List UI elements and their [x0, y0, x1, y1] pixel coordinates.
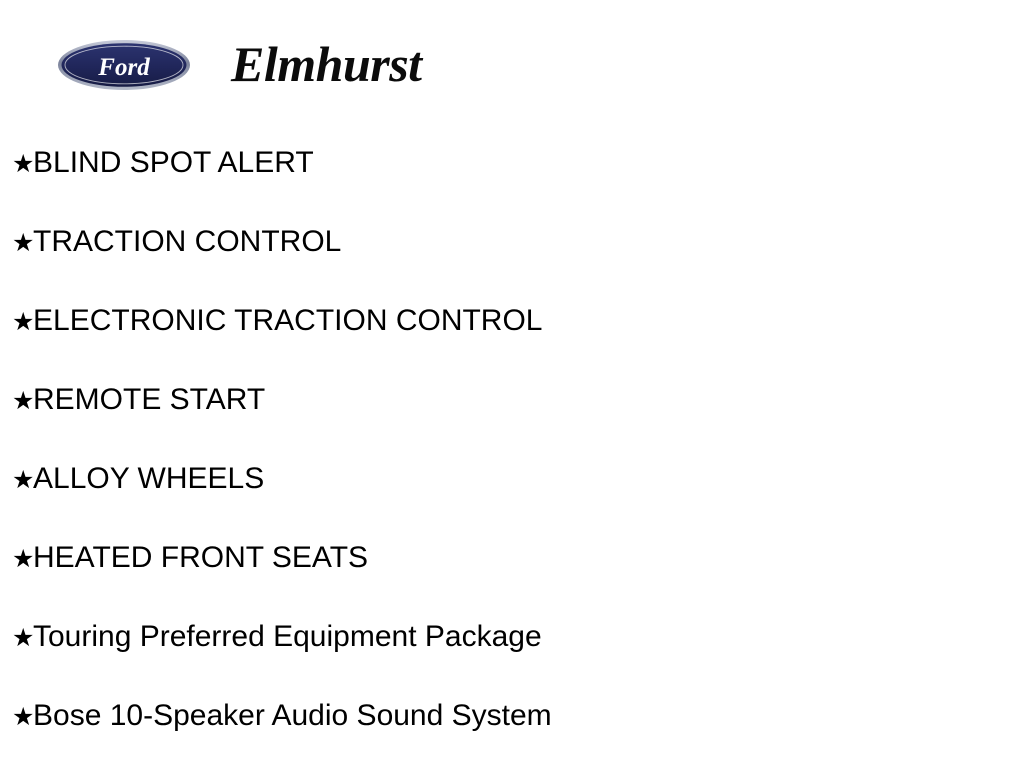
star-bullet-icon: ★ [0, 618, 33, 658]
brand-header: Ford Elmhurst [0, 0, 1024, 120]
star-bullet-icon: ★ [0, 381, 33, 421]
list-item: ★ BLIND SPOT ALERT [0, 143, 1024, 222]
feature-label: TRACTION CONTROL [33, 222, 341, 262]
feature-label: Touring Preferred Equipment Package [33, 617, 542, 657]
list-item: ★ ALLOY WHEELS [0, 459, 1024, 538]
list-item: ★ REMOTE START [0, 380, 1024, 459]
feature-label: ALLOY WHEELS [33, 459, 264, 499]
list-item: ★ Bose 10-Speaker Audio Sound System [0, 696, 1024, 775]
star-bullet-icon: ★ [0, 144, 33, 184]
svg-text:Ford: Ford [97, 54, 150, 81]
star-bullet-icon: ★ [0, 697, 33, 737]
feature-label: HEATED FRONT SEATS [33, 538, 368, 578]
list-item: ★ ELECTRONIC TRACTION CONTROL [0, 301, 1024, 380]
feature-label: REMOTE START [33, 380, 265, 420]
list-item: ★ TRACTION CONTROL [0, 222, 1024, 301]
star-bullet-icon: ★ [0, 302, 33, 342]
list-item: ★ Touring Preferred Equipment Package [0, 617, 1024, 696]
list-item: ★ HEATED FRONT SEATS [0, 538, 1024, 617]
star-bullet-icon: ★ [0, 460, 33, 500]
star-bullet-icon: ★ [0, 539, 33, 579]
feature-label: Bose 10-Speaker Audio Sound System [33, 696, 552, 736]
star-bullet-icon: ★ [0, 223, 33, 263]
dealer-name: Elmhurst [231, 36, 422, 92]
feature-label: BLIND SPOT ALERT [33, 143, 314, 183]
feature-label: ELECTRONIC TRACTION CONTROL [33, 301, 543, 341]
ford-oval-logo: Ford [57, 39, 191, 91]
vehicle-features-list: ★ BLIND SPOT ALERT ★ TRACTION CONTROL ★ … [0, 143, 1024, 775]
